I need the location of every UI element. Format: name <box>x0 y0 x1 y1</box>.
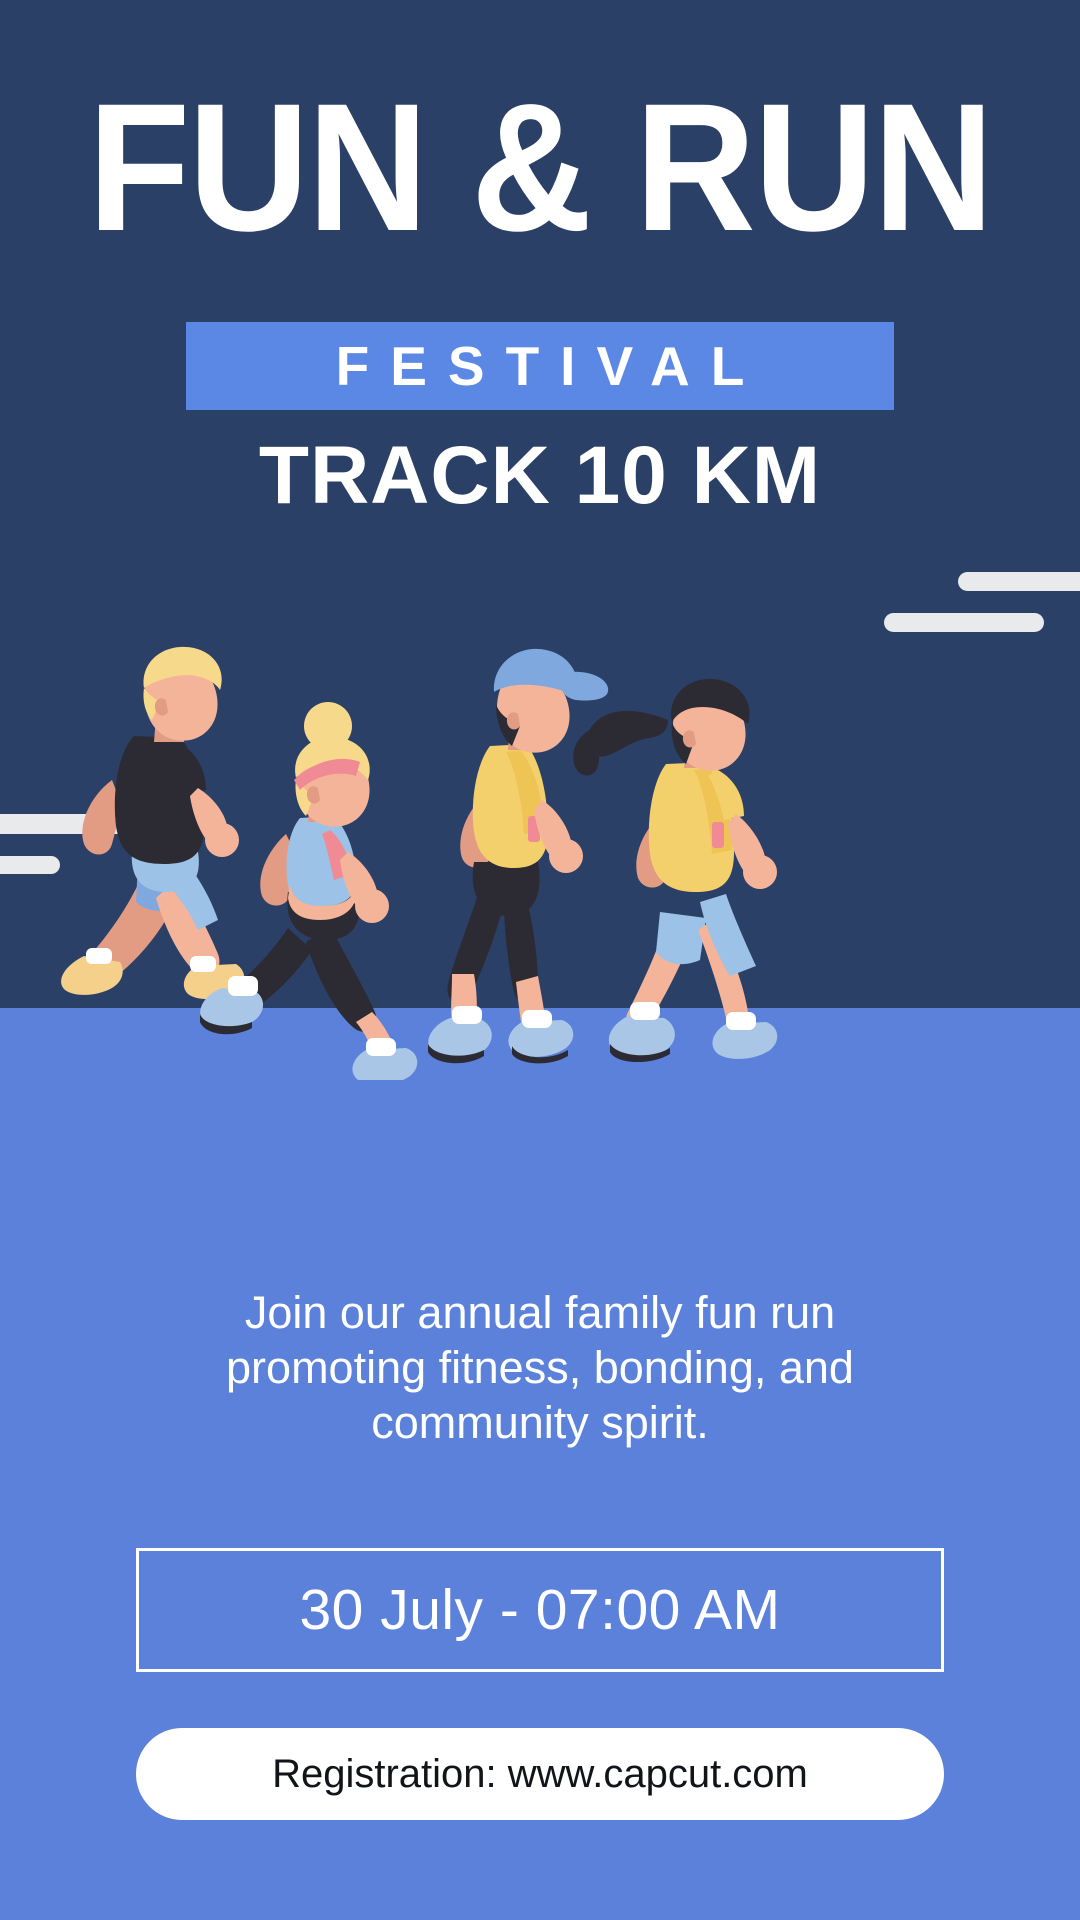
registration-label: Registration: www.capcut.com <box>272 1754 808 1794</box>
poster-canvas: FUN & RUN FESTIVAL TRACK 10 KM <box>0 0 1080 1920</box>
description-line-3: community spirit. <box>90 1396 990 1451</box>
event-date-box: 30 July - 07:00 AM <box>136 1548 944 1672</box>
registration-button[interactable]: Registration: www.capcut.com <box>136 1728 944 1820</box>
description-text: Join our annual family fun run promoting… <box>90 1286 990 1451</box>
event-date-text: 30 July - 07:00 AM <box>299 1582 780 1639</box>
festival-label: FESTIVAL <box>315 339 766 394</box>
description-line-2: promoting fitness, bonding, and <box>90 1341 990 1396</box>
runner-3 <box>428 649 608 1063</box>
runner-1 <box>61 647 244 999</box>
four-runners-illustration <box>0 630 1080 1080</box>
dash-mark-right-top <box>958 572 1080 591</box>
festival-band: FESTIVAL <box>186 322 894 410</box>
headline-block: FUN & RUN <box>0 84 1080 251</box>
runner-4 <box>573 679 777 1062</box>
description-line-1: Join our annual family fun run <box>90 1286 990 1341</box>
poster-subtitle: TRACK 10 KM <box>0 435 1080 517</box>
poster-title: FUN & RUN <box>43 84 1037 251</box>
runner-2 <box>200 702 417 1080</box>
